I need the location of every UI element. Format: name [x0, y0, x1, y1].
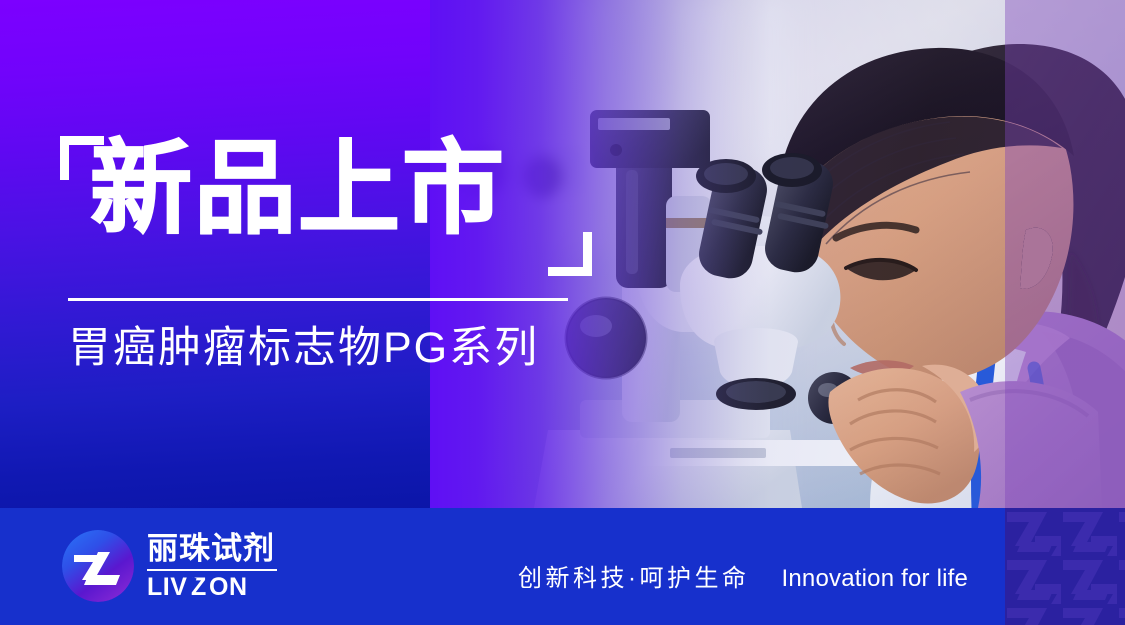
- brand-name-cn: 丽珠试剂: [147, 533, 277, 566]
- page-title: 新品上市: [90, 138, 506, 240]
- footer-tagline: 创新科技·呵护生命 Innovation for life: [518, 558, 968, 593]
- brand-logo[interactable]: 丽珠试剂 LIV Z ON: [62, 530, 277, 602]
- svg-text:ON: ON: [209, 573, 248, 599]
- tagline-cn: 创新科技·呵护生命: [518, 558, 750, 593]
- logo-watermark-pattern: [1005, 508, 1125, 625]
- lab-scientist-photo: [430, 0, 1125, 508]
- footer-bar: 丽珠试剂 LIV Z ON 创新科技·呵护生命 Innovation for l…: [0, 508, 1125, 625]
- page-subtitle: 胃癌肿瘤标志物PG系列: [68, 324, 539, 373]
- tagline-en: Innovation for life: [782, 565, 969, 593]
- livzon-badge-icon: [62, 530, 134, 602]
- title-divider: [68, 298, 568, 301]
- svg-text:LIV: LIV: [147, 573, 187, 599]
- background-gradient: [0, 0, 470, 508]
- brand-divider: [147, 569, 277, 571]
- promo-banner: 新品上市 胃癌肿瘤标志物PG系列: [0, 0, 1125, 625]
- brand-wordmark: 丽珠试剂 LIV Z ON: [147, 533, 277, 599]
- brand-name-en: LIV Z ON: [147, 573, 277, 599]
